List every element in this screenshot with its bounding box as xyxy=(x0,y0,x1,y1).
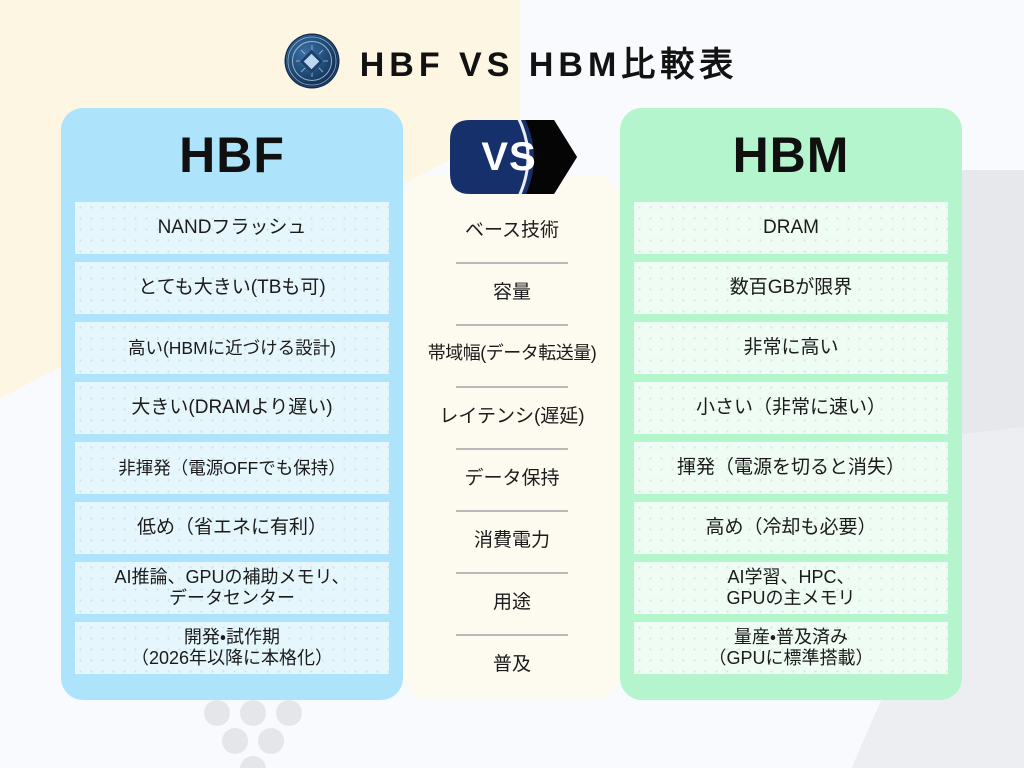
hbm-cell-use-case: AI学習、HPC、GPUの主メモリ xyxy=(634,562,948,614)
attribute-base-technology: ベース技術 xyxy=(406,202,618,254)
hbf-cell-adoption: 開発・試作期（2026年以降に本格化） xyxy=(75,622,389,674)
hbm-cell-capacity: 数百GBが限界 xyxy=(634,262,948,314)
attribute-capacity: 容量 xyxy=(406,264,618,316)
vs-badge: VS xyxy=(444,116,580,198)
hbf-cell-power-consumption: 低め（省エネに有利） xyxy=(75,502,389,554)
hbm-cell-bandwidth: 非常に高い xyxy=(634,322,948,374)
hbm-cell-adoption: 量産・普及済み（GPUに標準搭載） xyxy=(634,622,948,674)
hbm-heading: HBM xyxy=(634,108,948,202)
page-title: HBF VS HBM比較表 xyxy=(360,37,739,86)
hbf-cell-latency: 大きい(DRAMより遅い) xyxy=(75,382,389,434)
vs-label: VS xyxy=(444,116,580,198)
hbf-cell-capacity: とても大きい(TBも可) xyxy=(75,262,389,314)
hbf-heading: HBF xyxy=(75,108,389,202)
hbm-cell-power-consumption: 高め（冷却も必要） xyxy=(634,502,948,554)
attribute-adoption: 普及 xyxy=(406,636,618,688)
hbm-column: HBM DRAM 数百GBが限界 非常に高い 小さい（非常に速い） 揮発（電源を… xyxy=(620,108,962,700)
attribute-use-case: 用途 xyxy=(406,574,618,626)
attribute-latency: レイテンシ(遅延) xyxy=(406,388,618,440)
attribute-bandwidth: 帯域幅(データ転送量) xyxy=(406,326,618,378)
logo-ring-svg xyxy=(286,35,338,87)
page-header: HBF VS HBM比較表 xyxy=(0,26,1024,96)
hbm-cell-base-technology: DRAM xyxy=(634,202,948,254)
attribute-list: ベース技術 容量 帯域幅(データ転送量) レイテンシ(遅延) データ保持 消費電… xyxy=(404,202,620,696)
hbm-cell-latency: 小さい（非常に速い） xyxy=(634,382,948,434)
semiconductor-business-lab-logo-icon xyxy=(286,35,338,87)
hbf-cell-base-technology: NANDフラッシュ xyxy=(75,202,389,254)
attribute-power-consumption: 消費電力 xyxy=(406,512,618,564)
hbf-cell-use-case: AI推論、GPUの補助メモリ、データセンター xyxy=(75,562,389,614)
hbm-cell-data-retention: 揮発（電源を切ると消失） xyxy=(634,442,948,494)
hbf-cell-data-retention: 非揮発（電源OFFでも保持） xyxy=(75,442,389,494)
hbf-column: HBF NANDフラッシュ とても大きい(TBも可) 高い(HBMに近づける設計… xyxy=(61,108,403,700)
comparison-board: HBF NANDフラッシュ とても大きい(TBも可) 高い(HBMに近づける設計… xyxy=(0,108,1024,708)
hbf-cell-bandwidth: 高い(HBMに近づける設計) xyxy=(75,322,389,374)
attribute-data-retention: データ保持 xyxy=(406,450,618,502)
